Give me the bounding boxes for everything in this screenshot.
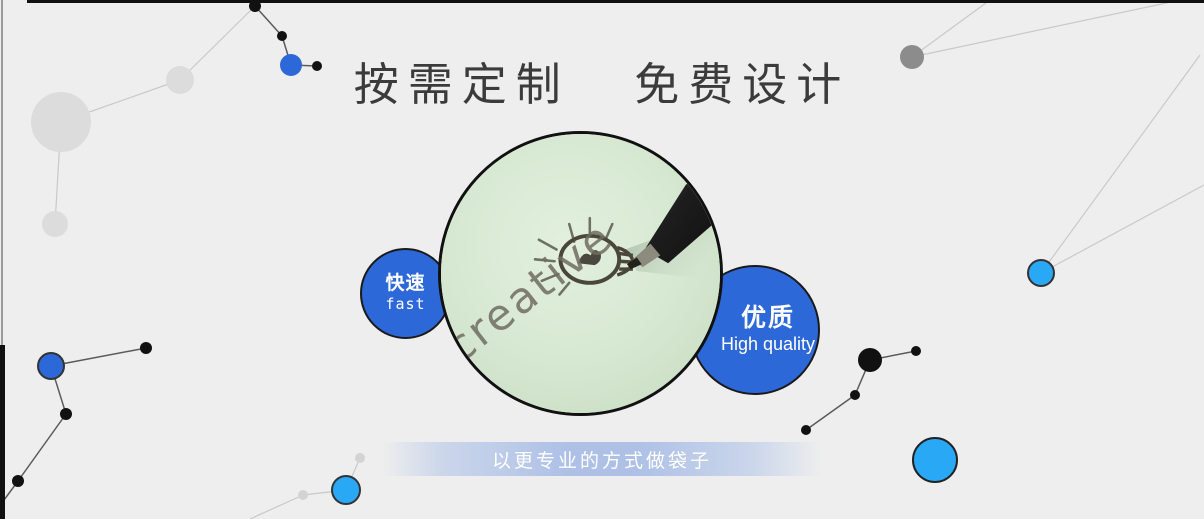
feature-bubble-fast-en: fast bbox=[385, 295, 425, 313]
page-title: 按需定制 免费设计 bbox=[0, 48, 1204, 113]
tagline-text: 以更专业的方式做袋子 bbox=[492, 446, 712, 473]
network-node bbox=[38, 353, 64, 379]
feature-bubble-fast-cn: 快速 bbox=[385, 274, 425, 294]
network-node bbox=[277, 31, 287, 41]
network-node bbox=[355, 453, 365, 463]
network-node bbox=[140, 342, 152, 354]
top-edge-black-rule bbox=[27, 0, 1204, 3]
feature-bubble-quality-en: High quality bbox=[721, 334, 815, 355]
network-node bbox=[332, 476, 360, 504]
tagline-banner: 以更专业的方式做袋子 bbox=[382, 442, 822, 476]
network-node bbox=[850, 390, 860, 400]
network-node bbox=[858, 348, 882, 372]
network-node bbox=[12, 475, 24, 487]
promo-banner-canvas: 按需定制 免费设计 快速 fast 优质 High quality bbox=[0, 0, 1204, 519]
creative-sketch-photo: creative bbox=[438, 131, 723, 416]
left-edge-black-bar bbox=[0, 345, 5, 519]
network-node bbox=[1028, 260, 1054, 286]
network-node bbox=[42, 211, 68, 237]
feature-bubble-quality-cn: 优质 bbox=[741, 305, 795, 333]
network-node bbox=[911, 346, 921, 356]
network-node bbox=[913, 438, 957, 482]
network-node bbox=[60, 408, 72, 420]
creative-sketch-illustration: creative bbox=[441, 134, 720, 413]
feature-bubble-fast[interactable]: 快速 fast bbox=[360, 248, 451, 339]
network-node bbox=[801, 425, 811, 435]
network-node bbox=[298, 490, 308, 500]
